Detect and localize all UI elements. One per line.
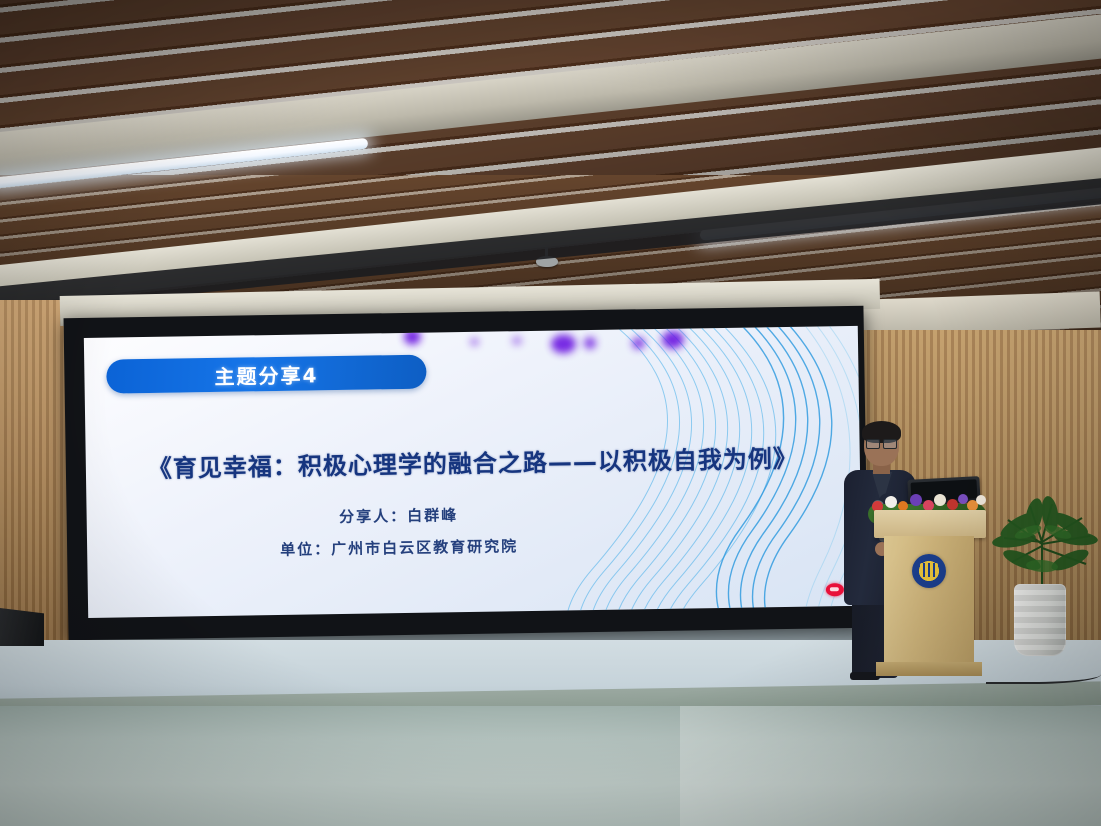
flower-blossom	[934, 494, 946, 506]
school-crest-emblem-icon	[912, 554, 946, 588]
lectern-top	[874, 510, 986, 538]
plant-pot	[1014, 584, 1066, 656]
scene-root: 主题分享4 《育见幸福：积极心理学的融合之路——以积极自我为例》 分享人：白群峰…	[0, 0, 1101, 826]
flower-blossom	[976, 495, 986, 505]
stage-monitor-speaker	[0, 608, 44, 646]
lectern-base	[876, 662, 982, 676]
palm-fronds	[990, 480, 1100, 600]
flower-blossom	[910, 494, 922, 506]
slide-artifact-blob	[470, 338, 479, 346]
slide-artifact-blob	[404, 329, 421, 345]
eyeglasses-icon	[866, 439, 897, 447]
potted-palm	[990, 480, 1100, 660]
flower-blossom	[947, 499, 958, 510]
slide-artifact-blob	[512, 336, 522, 345]
floor-reflection	[680, 706, 1100, 826]
flower-blossom	[885, 496, 897, 508]
slide-section-badge: 主题分享4	[106, 355, 426, 394]
wooden-lectern	[874, 510, 986, 675]
led-screen-frame: 主题分享4 《育见幸福：积极心理学的融合之路——以积极自我为例》 分享人：白群峰…	[64, 306, 869, 641]
presentation-slide[interactable]: 主题分享4 《育见幸福：积极心理学的融合之路——以积极自我为例》 分享人：白群峰…	[84, 326, 862, 618]
slide-section-badge-label: 主题分享4	[214, 359, 318, 390]
